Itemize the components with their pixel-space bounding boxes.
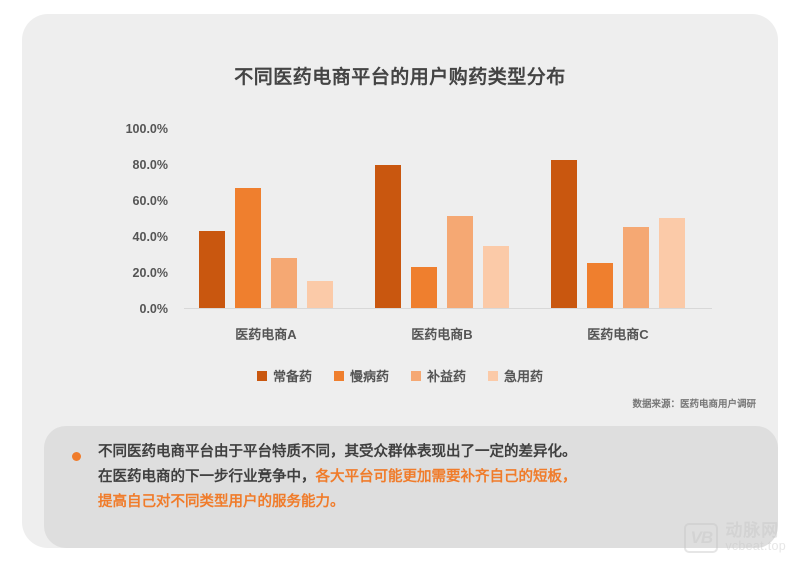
x-axis-label: 医药电商B: [411, 324, 472, 343]
legend-item-常备药[interactable]: 常备药: [257, 366, 312, 385]
legend-swatch-icon: [334, 371, 344, 381]
legend-swatch-icon: [411, 371, 421, 381]
chart-plot-area: 100.0%80.0%60.0%40.0%20.0%0.0%: [112, 119, 712, 319]
chart-legend: 常备药慢病药补益药急用药: [22, 366, 778, 385]
watermark-cn: 动脉网: [725, 522, 786, 540]
x-axis-label: 医药电商A: [235, 324, 296, 343]
bar-慢病药[interactable]: [411, 267, 437, 308]
bars-container: [184, 129, 712, 309]
callout-box: 不同医药电商平台由于平台特质不同，其受众群体表现出了一定的差异化。 在医药电商的…: [44, 426, 778, 548]
legend-label: 常备药: [273, 366, 312, 385]
legend-swatch-icon: [488, 371, 498, 381]
chart-card: 不同医药电商平台的用户购药类型分布 100.0%80.0%60.0%40.0%2…: [22, 14, 778, 548]
legend-label: 急用药: [504, 366, 543, 385]
y-axis-tick: 80.0%: [133, 158, 168, 172]
callout-line-2-plain: 在医药电商的下一步行业竞争中，: [98, 469, 316, 485]
bar-急用药[interactable]: [307, 281, 333, 308]
bar-慢病药[interactable]: [235, 188, 261, 308]
bar-补益药[interactable]: [447, 216, 473, 308]
callout-line-2-highlight: 各大平台可能更加需要补齐自己的短板，: [316, 469, 577, 485]
y-axis-tick: 0.0%: [140, 302, 169, 316]
bar-常备药[interactable]: [375, 165, 401, 308]
bar-慢病药[interactable]: [587, 263, 613, 308]
legend-label: 慢病药: [350, 366, 389, 385]
bar-group: [375, 128, 509, 308]
screenshot-root: 不同医药电商平台的用户购药类型分布 100.0%80.0%60.0%40.0%2…: [0, 0, 800, 561]
bar-补益药[interactable]: [271, 258, 297, 308]
y-axis-tick: 100.0%: [126, 122, 168, 136]
callout-line-3-highlight: 提高自己对不同类型用户的服务能力。: [98, 494, 345, 510]
legend-item-补益药[interactable]: 补益药: [411, 366, 466, 385]
callout-text: 不同医药电商平台由于平台特质不同，其受众群体表现出了一定的差异化。 在医药电商的…: [98, 440, 758, 515]
bullet-dot-icon: [72, 452, 81, 461]
bar-常备药[interactable]: [199, 231, 225, 308]
bar-急用药[interactable]: [483, 246, 509, 308]
y-axis-tick: 40.0%: [133, 230, 168, 244]
callout-line-1: 不同医药电商平台由于平台特质不同，其受众群体表现出了一定的差异化。: [98, 444, 577, 460]
y-axis-tick: 60.0%: [133, 194, 168, 208]
watermark-logo-icon: VB: [684, 523, 718, 553]
source-note: 数据来源：医药电商用户调研: [632, 396, 756, 410]
chart-title: 不同医药电商平台的用户购药类型分布: [22, 62, 778, 89]
y-axis: 100.0%80.0%60.0%40.0%20.0%0.0%: [112, 119, 174, 309]
x-axis-labels: 医药电商A医药电商B医药电商C: [184, 324, 712, 346]
x-axis-label: 医药电商C: [587, 324, 648, 343]
bar-常备药[interactable]: [551, 160, 577, 308]
legend-swatch-icon: [257, 371, 267, 381]
bar-补益药[interactable]: [623, 227, 649, 308]
legend-label: 补益药: [427, 366, 466, 385]
watermark: VB 动脉网 vcbeat.top: [684, 522, 786, 553]
bar-group: [551, 128, 685, 308]
watermark-en: vcbeat.top: [725, 540, 786, 553]
bar-急用药[interactable]: [659, 218, 685, 308]
legend-item-急用药[interactable]: 急用药: [488, 366, 543, 385]
bar-group: [199, 128, 333, 308]
y-axis-tick: 20.0%: [133, 266, 168, 280]
watermark-texts: 动脉网 vcbeat.top: [725, 522, 786, 553]
legend-item-慢病药[interactable]: 慢病药: [334, 366, 389, 385]
